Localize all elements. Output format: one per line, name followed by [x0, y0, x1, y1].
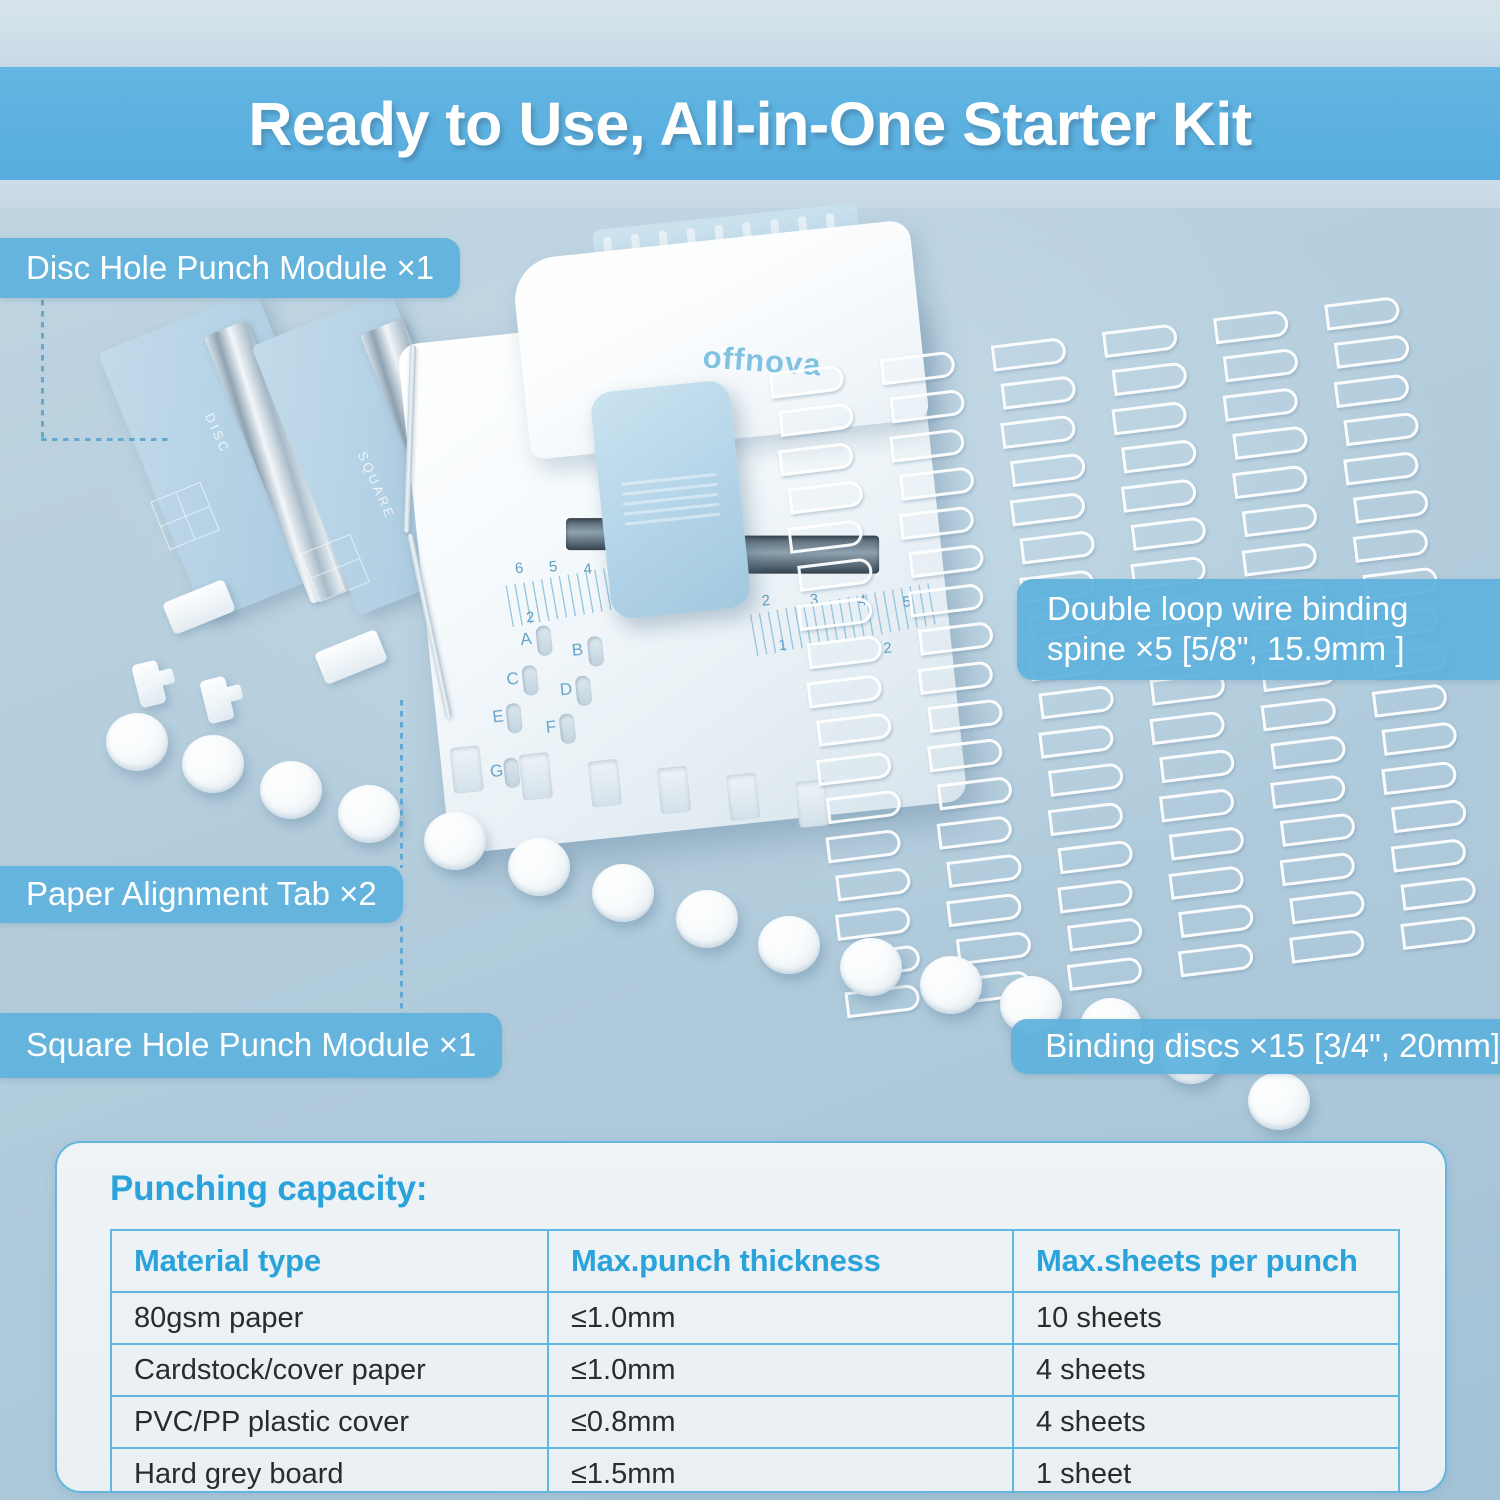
wire-loop	[1019, 530, 1096, 565]
wire-loop	[1232, 464, 1309, 499]
wire-loop	[1048, 762, 1125, 797]
wire-loop	[1232, 425, 1309, 460]
setting-hole-a	[535, 625, 553, 656]
wire-loop	[1010, 492, 1087, 527]
wire-loop	[889, 389, 966, 424]
column-header-sheets: Max.sheets per punch	[1013, 1230, 1399, 1292]
letter-mark-e: E	[491, 706, 504, 727]
callout-binding-discs: Binding discs ×15 [3/4", 20mm]	[1011, 1019, 1500, 1074]
callout-wire-binding-spine-line1: Double loop wire binding	[1047, 589, 1500, 629]
wire-loop	[1381, 760, 1458, 795]
wire-loop	[1111, 401, 1188, 436]
wire-loop	[1242, 502, 1319, 537]
column-header-thickness: Max.punch thickness	[548, 1230, 1013, 1292]
letter-mark-f: F	[545, 717, 557, 738]
wire-loop	[835, 867, 912, 902]
wire-loop	[946, 892, 1023, 927]
binding-disc-5	[424, 812, 486, 870]
binding-disc-7	[592, 864, 654, 922]
wire-loop	[899, 505, 976, 540]
binding-disc-3	[260, 761, 322, 819]
wire-loop	[1353, 528, 1430, 563]
wire-loop	[1353, 489, 1430, 524]
table-row: 80gsm paper ≤1.0mm 10 sheets	[111, 1292, 1399, 1344]
paper-alignment-tab-1	[131, 660, 167, 709]
callout-paper-alignment-tab-text: Paper Alignment Tab ×2	[26, 874, 377, 914]
wire-loop	[1289, 929, 1366, 964]
wire-loop	[1400, 876, 1477, 911]
wire-loop	[787, 519, 864, 554]
connector-disc-module-vertical	[41, 300, 44, 440]
header-top-strip	[0, 0, 1500, 67]
setting-hole-d	[575, 675, 593, 706]
punching-capacity-table: Material type Max.punch thickness Max.sh…	[110, 1229, 1400, 1493]
callout-disc-punch-module: Disc Hole Punch Module ×1	[0, 238, 460, 298]
ruler-number-left-4: 4	[583, 560, 593, 578]
callout-square-punch-module: Square Hole Punch Module ×1	[0, 1013, 502, 1078]
wire-loop	[1057, 879, 1134, 914]
wire-loop	[1334, 334, 1411, 369]
wire-loop	[946, 853, 1023, 888]
cell-thickness: ≤1.0mm	[548, 1292, 1013, 1344]
wire-loop	[1067, 917, 1144, 952]
wire-loop	[1121, 439, 1198, 474]
letter-mark-d: D	[559, 679, 573, 700]
wire-loop	[1121, 478, 1198, 513]
wire-loop	[918, 621, 995, 656]
wire-loop	[1391, 838, 1468, 873]
chip-tray-slot-3	[588, 759, 623, 808]
wire-loop	[927, 698, 1004, 733]
cell-thickness: ≤0.8mm	[548, 1396, 1013, 1448]
callout-wire-binding-spine: Double loop wire binding spine ×5 [5/8",…	[1017, 579, 1500, 680]
wire-closer-arm-right	[407, 533, 452, 718]
wire-loop	[1334, 373, 1411, 408]
wire-loop	[1168, 865, 1245, 900]
binding-disc-10	[840, 938, 902, 996]
wire-loop	[991, 337, 1068, 372]
wire-loop	[1261, 697, 1338, 732]
setting-hole-c	[521, 665, 539, 696]
binding-disc-9	[758, 916, 820, 974]
cell-material: PVC/PP plastic cover	[111, 1396, 548, 1448]
chip-tray-slot-4	[657, 766, 692, 815]
wire-loop	[937, 776, 1014, 811]
header-banner: Ready to Use, All-in-One Starter Kit	[0, 67, 1500, 180]
callout-disc-punch-module-text: Disc Hole Punch Module ×1	[26, 248, 434, 288]
wire-loop	[825, 829, 902, 864]
wire-loop	[1000, 414, 1077, 449]
table-row: PVC/PP plastic cover ≤0.8mm 4 sheets	[111, 1396, 1399, 1448]
wire-loop	[1270, 735, 1347, 770]
punch-handle	[589, 379, 752, 620]
wire-loop	[797, 557, 874, 592]
ruler-number-left-5: 5	[548, 558, 558, 576]
cell-sheets: 4 sheets	[1013, 1344, 1399, 1396]
wire-loop	[835, 906, 912, 941]
wire-loop	[899, 466, 976, 501]
wire-loop	[1223, 387, 1300, 422]
infographic-page: Ready to Use, All-in-One Starter Kit DIS…	[0, 0, 1500, 1500]
wire-loop	[826, 789, 903, 824]
binding-disc-1	[106, 713, 168, 771]
wire-loop	[1038, 724, 1115, 759]
binding-disc-8	[676, 890, 738, 948]
cell-thickness: ≤1.5mm	[548, 1448, 1013, 1493]
wire-loop	[1149, 710, 1226, 745]
wire-loop	[927, 738, 1004, 773]
wire-loop	[1178, 903, 1255, 938]
column-header-material: Material type	[111, 1230, 548, 1292]
callout-paper-alignment-tab: Paper Alignment Tab ×2	[0, 866, 403, 923]
setting-hole-f	[558, 713, 576, 744]
wire-loop	[1010, 452, 1087, 487]
letter-mark-g: G	[489, 761, 504, 782]
letter-mark-b: B	[571, 640, 584, 661]
wire-loop	[1102, 323, 1179, 358]
ruler-number-left-2: 2	[525, 609, 535, 627]
wire-loop	[807, 634, 884, 669]
ruler-number-left-6: 6	[514, 560, 524, 578]
ruler-number-right-1: 1	[778, 636, 788, 654]
connector-paper-tab-vertical	[400, 700, 403, 868]
wire-loop	[1223, 348, 1300, 383]
wire-loop	[1048, 801, 1125, 836]
chip-tray-slot-2	[518, 752, 553, 801]
letter-mark-c: C	[506, 669, 520, 690]
binding-disc-15	[1248, 1072, 1310, 1130]
wire-loop	[1372, 683, 1449, 718]
letter-mark-a: A	[519, 629, 532, 650]
cell-sheets: 10 sheets	[1013, 1292, 1399, 1344]
wire-loop	[1343, 451, 1420, 486]
page-title: Ready to Use, All-in-One Starter Kit	[248, 89, 1251, 159]
wire-loop	[1159, 748, 1236, 783]
wire-loop	[889, 428, 966, 463]
punching-capacity-title: Punching capacity:	[110, 1169, 427, 1209]
wire-loop	[778, 402, 855, 437]
connector-square-module-vertical	[400, 926, 403, 1016]
wire-loop	[816, 751, 893, 786]
wire-loop	[1280, 851, 1357, 886]
wire-loop	[1067, 956, 1144, 991]
wire-loop	[797, 596, 874, 631]
callout-square-punch-module-text: Square Hole Punch Module ×1	[26, 1025, 476, 1065]
wire-loop	[1343, 411, 1420, 446]
paper-alignment-tab-2	[199, 676, 235, 725]
square-module-foot	[314, 629, 388, 685]
cell-sheets: 4 sheets	[1013, 1396, 1399, 1448]
wire-loop	[1169, 826, 1246, 861]
wire-loop	[1324, 296, 1401, 331]
punching-capacity-card: Punching capacity: Material type Max.pun…	[55, 1141, 1447, 1493]
handle-grip-lines	[621, 473, 722, 535]
ruler-number-right-2: 2	[761, 592, 771, 610]
wire-loop	[816, 712, 893, 747]
wire-loop	[1000, 375, 1077, 410]
wire-loop	[788, 480, 865, 515]
table-row: Cardstock/cover paper ≤1.0mm 4 sheets	[111, 1344, 1399, 1396]
wire-loop	[937, 815, 1014, 850]
wire-loop	[1270, 774, 1347, 809]
wire-loop	[908, 543, 985, 578]
header-bottom-strip	[0, 180, 1500, 208]
wire-loop	[1159, 788, 1236, 823]
callout-binding-discs-text: Binding discs ×15 [3/4", 20mm]	[1045, 1026, 1500, 1066]
wire-loop	[1038, 685, 1115, 720]
wire-loop	[1112, 361, 1189, 396]
wire-loop	[1381, 721, 1458, 756]
connector-disc-module-horizontal	[41, 438, 169, 441]
cell-material: Cardstock/cover paper	[111, 1344, 548, 1396]
table-header-row: Material type Max.punch thickness Max.sh…	[111, 1230, 1399, 1292]
setting-hole-b	[587, 636, 605, 667]
wire-loop	[1391, 798, 1468, 833]
wire-loop	[1242, 542, 1319, 577]
wire-loop	[806, 674, 883, 709]
wire-loop	[1131, 516, 1208, 551]
cell-thickness: ≤1.0mm	[548, 1344, 1013, 1396]
wire-loop	[1213, 309, 1290, 344]
wire-loop	[918, 660, 995, 695]
wire-loop	[778, 442, 855, 477]
cell-sheets: 1 sheet	[1013, 1448, 1399, 1493]
chip-tray-slot-5	[726, 772, 761, 821]
setting-hole-e	[505, 703, 523, 734]
binding-disc-4	[338, 785, 400, 843]
chip-tray-slot-1	[449, 745, 484, 794]
cell-material: Hard grey board	[111, 1448, 548, 1493]
wire-loop	[1280, 812, 1357, 847]
cell-material: 80gsm paper	[111, 1292, 548, 1344]
setting-hole-g	[503, 757, 521, 788]
wire-loop	[1400, 915, 1477, 950]
disc-module-foot	[162, 579, 236, 635]
wire-loop	[908, 583, 985, 618]
binding-disc-6	[508, 838, 570, 896]
binding-disc-2	[182, 735, 244, 793]
wire-loop	[1057, 839, 1134, 874]
table-row: Hard grey board ≤1.5mm 1 sheet	[111, 1448, 1399, 1493]
wire-loop	[1178, 942, 1255, 977]
wire-loop	[1289, 890, 1366, 925]
callout-wire-binding-spine-line2: spine ×5 [5/8", 15.9mm ]	[1047, 629, 1500, 669]
binding-disc-11	[920, 956, 982, 1014]
